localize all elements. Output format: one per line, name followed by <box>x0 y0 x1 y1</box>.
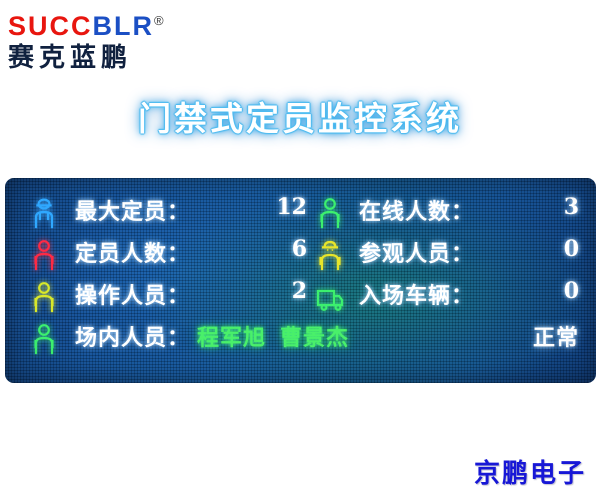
page-title: 门禁式定员监控系统 <box>0 92 600 140</box>
led-value-online-count: 3 <box>479 194 579 220</box>
person-icon <box>29 280 59 314</box>
registered-trademark-icon: ® <box>154 13 164 28</box>
led-label-vehicle-count: 入场车辆： <box>359 278 474 310</box>
truck-icon <box>315 280 345 314</box>
led-label-online-count: 在线人数： <box>359 194 474 226</box>
brand-subtitle: 赛克蓝鹏 <box>8 42 208 74</box>
status-badge: 正常 <box>479 320 579 352</box>
led-row: 最大定员： 12 在线人数： 3 <box>27 192 579 234</box>
led-value-visitor-count: 0 <box>479 236 579 262</box>
led-value-vehicle-count: 0 <box>479 278 579 304</box>
led-display-panel: 最大定员： 12 在线人数： 3 <box>5 178 596 383</box>
brand-wordmark-red: SUCC <box>8 11 93 41</box>
person-icon <box>315 196 345 230</box>
brand-logo: SUCCBLR® 赛克蓝鹏 <box>8 6 208 72</box>
led-value-operator-count: 2 <box>197 278 307 304</box>
led-label-onsite-personnel: 场内人员： <box>75 320 190 352</box>
person-with-helmet-icon <box>315 238 345 272</box>
led-onsite-names: 程军旭曹景杰 <box>197 320 477 352</box>
brand-wordmark-blue: BLR <box>93 11 155 41</box>
led-label-quota-count: 定员人数： <box>75 236 190 268</box>
led-row: 定员人数： 6 参观人员： 0 <box>27 234 579 276</box>
person-icon <box>29 322 59 356</box>
led-label-visitor-count: 参观人员： <box>359 236 474 268</box>
led-row-onsite-personnel: 场内人员： 程军旭曹景杰 正常 <box>27 318 579 360</box>
person-icon <box>29 238 59 272</box>
brand-wordmark: SUCCBLR® <box>8 6 208 41</box>
led-content-grid: 最大定员： 12 在线人数： 3 <box>27 188 579 368</box>
onsite-name: 程军旭 <box>197 326 266 351</box>
led-value-quota-count: 6 <box>197 236 307 262</box>
led-label-operator-count: 操作人员： <box>75 278 190 310</box>
led-label-max-capacity: 最大定员： <box>75 194 190 226</box>
led-value-max-capacity: 12 <box>197 194 307 220</box>
footer-brand: 京鹏电子 <box>474 453 586 490</box>
led-row: 操作人员： 2 入场车辆： 0 <box>27 276 579 318</box>
person-with-cap-icon <box>29 196 59 230</box>
onsite-name: 曹景杰 <box>280 326 349 351</box>
